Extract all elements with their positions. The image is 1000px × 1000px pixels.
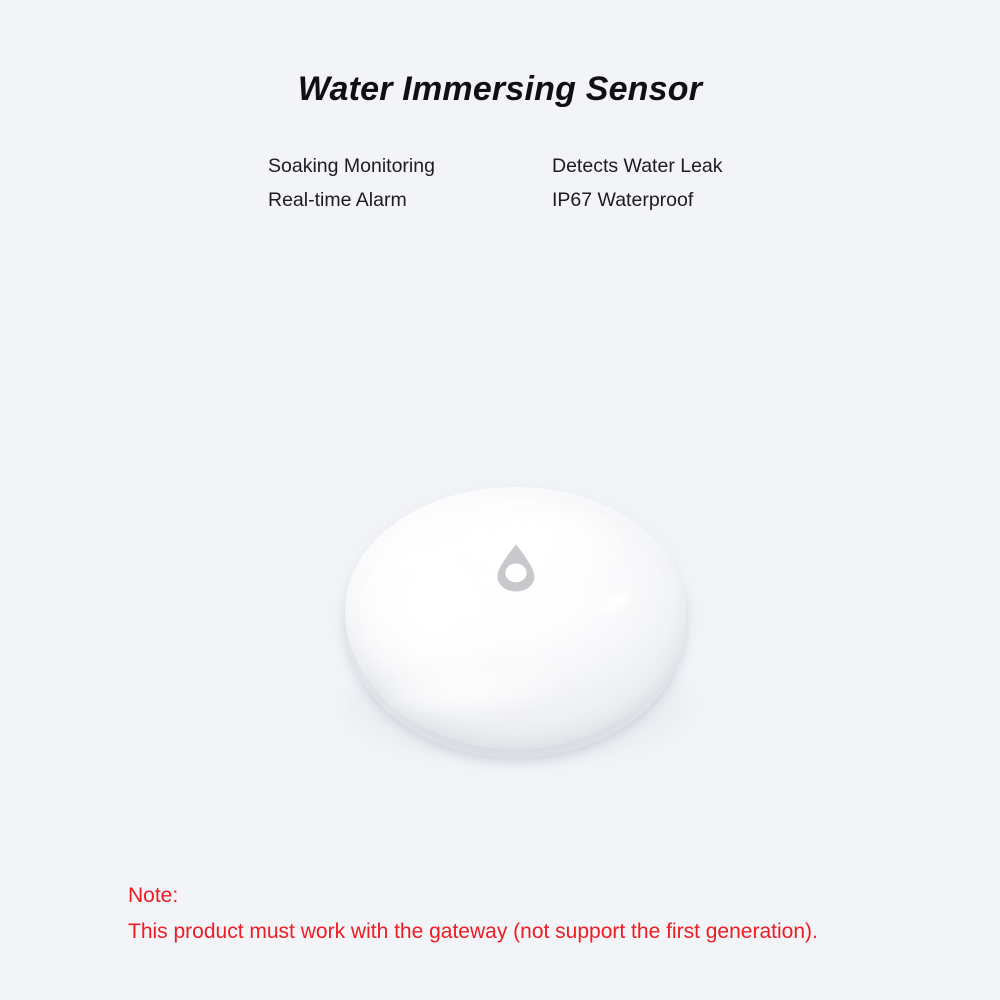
feature-row: Real-time Alarm IP67 Waterproof: [268, 184, 788, 218]
page-title: Water Immersing Sensor: [0, 70, 1000, 109]
water-droplet-icon: [493, 542, 539, 592]
product-image: [300, 450, 730, 800]
note-label: Note:: [128, 878, 948, 914]
feature-ip67-waterproof: IP67 Waterproof: [552, 191, 788, 211]
feature-row: Soaking Monitoring Detects Water Leak: [268, 150, 788, 184]
product-banner: Water Immersing Sensor Soaking Monitorin…: [0, 0, 1000, 1000]
note-text: This product must work with the gateway …: [128, 914, 948, 950]
note-block: Note: This product must work with the ga…: [128, 878, 948, 950]
feature-real-time-alarm: Real-time Alarm: [268, 191, 552, 211]
feature-list: Soaking Monitoring Detects Water Leak Re…: [268, 150, 788, 218]
feature-detects-water-leak: Detects Water Leak: [552, 157, 788, 177]
feature-soaking-monitoring: Soaking Monitoring: [268, 157, 552, 177]
